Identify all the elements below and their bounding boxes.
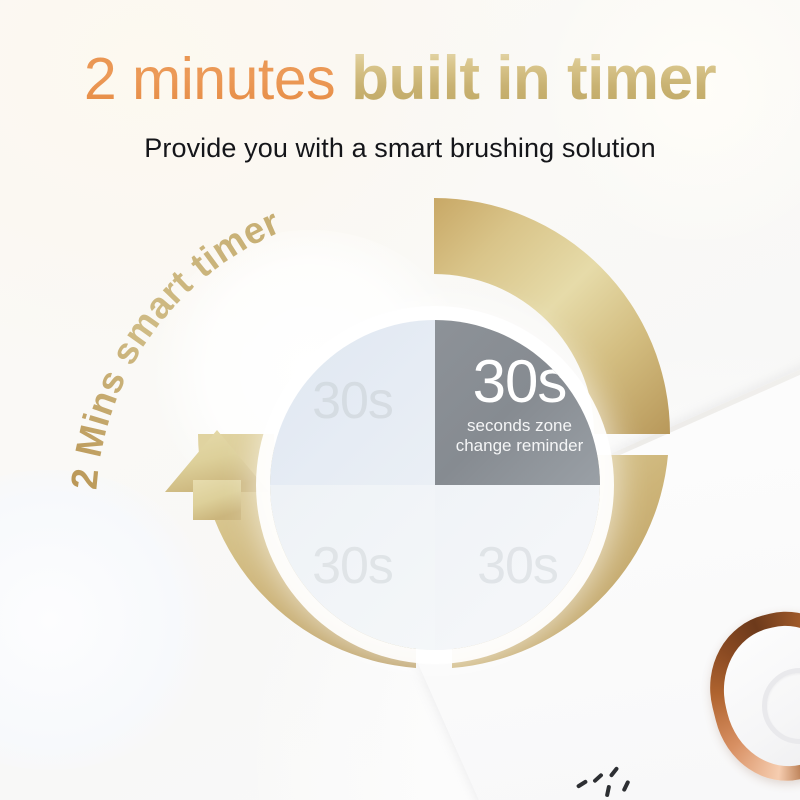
promo-graphic: 30s 30s seconds zone change reminder 30s… [0, 0, 800, 800]
arc-label-group: 2 Mins smart timer [0, 0, 800, 800]
page-subtitle: Provide you with a smart brushing soluti… [0, 133, 800, 164]
arc-label: 2 Mins smart timer [63, 201, 285, 491]
title-part-builtin: built in timer [351, 44, 716, 113]
page-title: 2 minutesbuilt in timer [0, 48, 800, 110]
title-part-minutes: 2 minutes [84, 46, 335, 112]
